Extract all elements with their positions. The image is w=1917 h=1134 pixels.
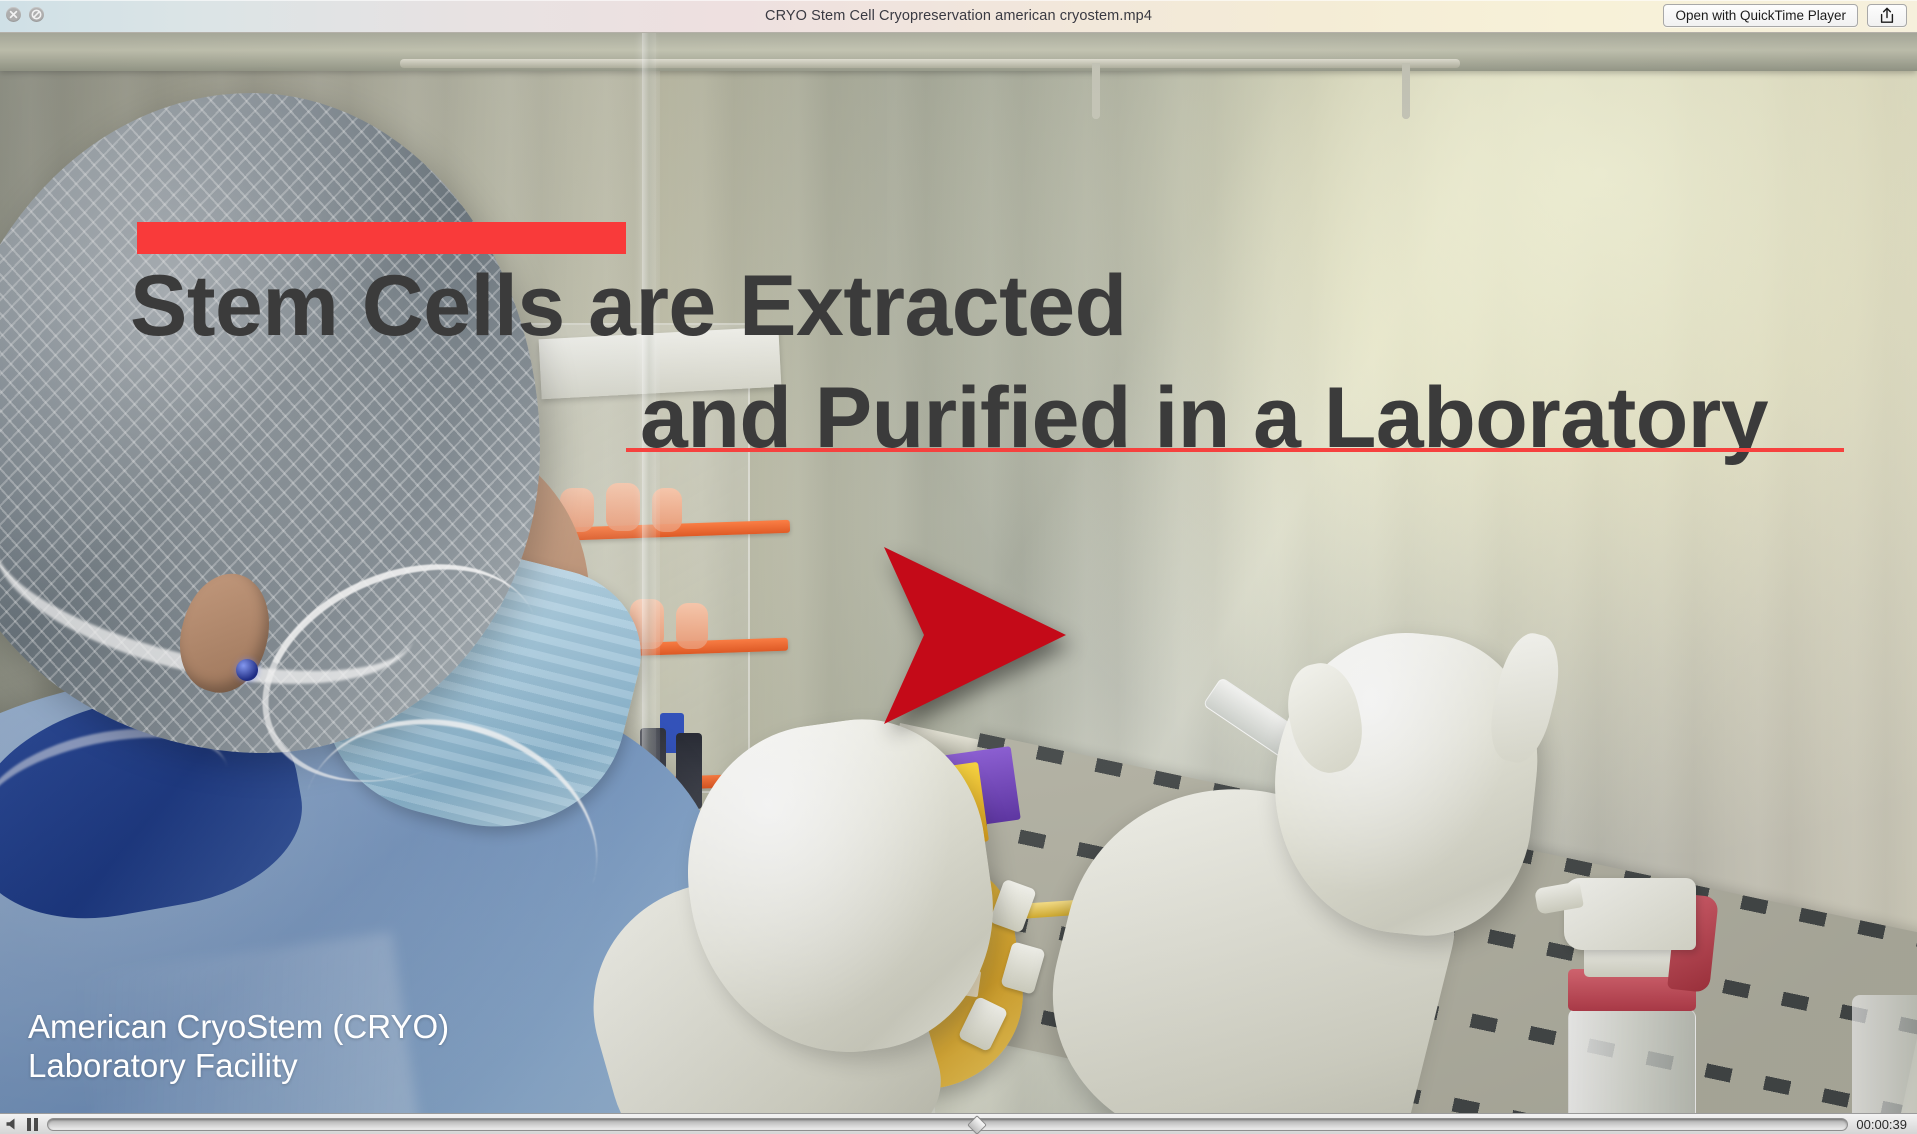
video-surface[interactable]: Stem Cells are Extracted and Purified in… bbox=[0, 33, 1917, 1113]
caption-line-1: American CryoStem (CRYO) bbox=[28, 1008, 449, 1045]
pause-bar-left bbox=[27, 1118, 31, 1131]
quick-look-window: Stem Cells are Extracted and Purified in… bbox=[0, 0, 1917, 1134]
share-button[interactable] bbox=[1867, 4, 1907, 27]
speaker-icon[interactable] bbox=[5, 1117, 20, 1131]
window-title: CRYO Stem Cell Cryopreservation american… bbox=[0, 0, 1917, 33]
headline-line-1: Stem Cells are Extracted bbox=[0, 263, 1830, 349]
caption-line-2: Laboratory Facility bbox=[28, 1047, 449, 1085]
open-with-quicktime-button[interactable]: Open with QuickTime Player bbox=[1663, 4, 1858, 27]
pause-bar-right bbox=[34, 1118, 38, 1131]
headline-underline bbox=[626, 448, 1844, 452]
scrubber-track[interactable] bbox=[47, 1118, 1848, 1131]
elapsed-time: 00:00:39 bbox=[1856, 1117, 1907, 1132]
title-overlay: Stem Cells are Extracted and Purified in… bbox=[0, 33, 1917, 1113]
titlebar-actions: Open with QuickTime Player bbox=[1663, 4, 1907, 27]
share-icon bbox=[1879, 7, 1895, 24]
video-caption: American CryoStem (CRYO) Laboratory Faci… bbox=[28, 1008, 449, 1085]
right-arrow-icon bbox=[880, 543, 1070, 728]
playback-controls: 00:00:39 bbox=[0, 1113, 1917, 1134]
pause-button[interactable] bbox=[27, 1118, 38, 1131]
page-title: Stem Cells are Extracted and Purified in… bbox=[0, 263, 1830, 461]
accent-bar bbox=[137, 222, 626, 254]
scrubber[interactable] bbox=[47, 1118, 1848, 1131]
window-titlebar: CRYO Stem Cell Cryopreservation american… bbox=[0, 0, 1917, 33]
